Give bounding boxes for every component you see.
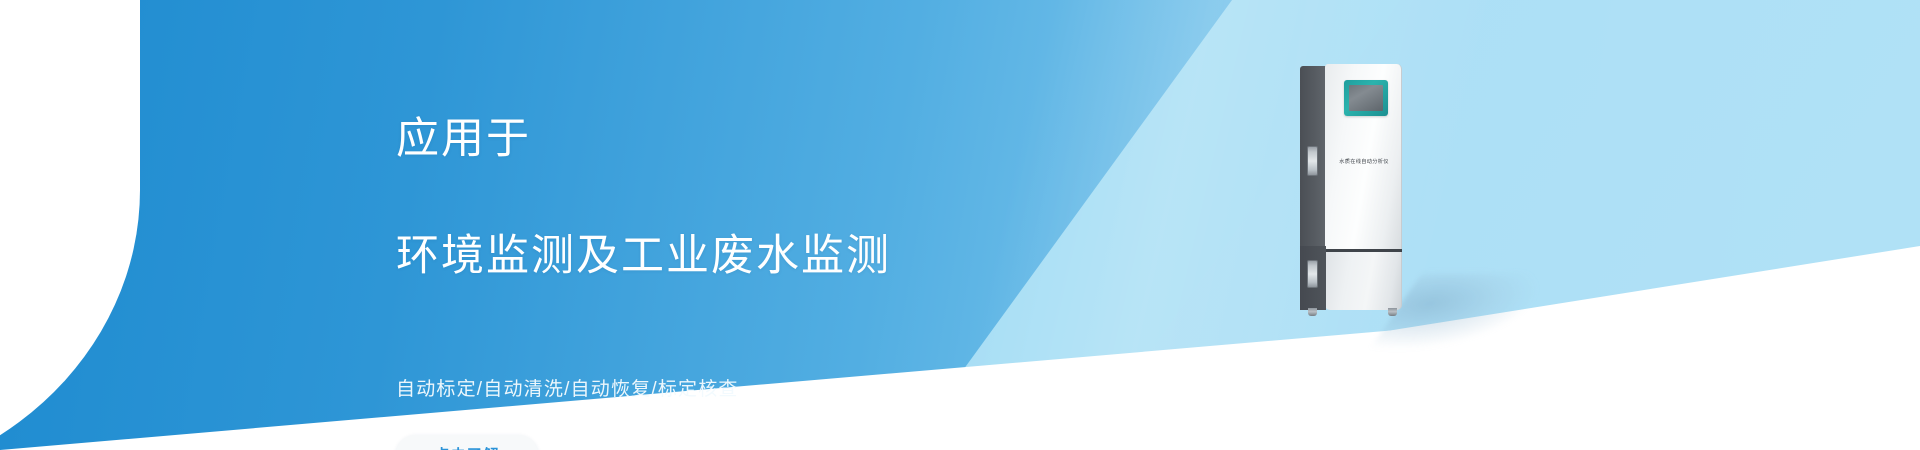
- cabinet-caster-right: [1388, 308, 1397, 316]
- cabinet-caster-left: [1308, 308, 1317, 316]
- display-bezel: [1344, 80, 1388, 116]
- cabinet-handle-lower: [1307, 260, 1318, 288]
- display-screen: [1349, 85, 1383, 111]
- banner-subtitle: 自动标定/自动清洗/自动恢复/标定核查: [396, 374, 1156, 401]
- promo-banner: 应用于 环境监测及工业废水监测 自动标定/自动清洗/自动恢复/标定核查 点击了解…: [0, 0, 1920, 450]
- cabinet-label: 水质在线自动分析仪: [1328, 158, 1400, 165]
- headline-line-2: 环境监测及工业废水监测: [396, 227, 1156, 285]
- product-image-water-quality-analyzer: 水质在线自动分析仪: [1300, 60, 1460, 330]
- headline-line-1: 应用于: [396, 110, 1156, 168]
- banner-copy-block: 应用于 环境监测及工业废水监测 自动标定/自动清洗/自动恢复/标定核查 点击了解: [396, 52, 1156, 450]
- cabinet-handle-upper: [1307, 146, 1318, 176]
- banner-headline: 应用于 环境监测及工业废水监测: [396, 52, 1156, 344]
- cabinet-lower-drawer: [1325, 252, 1402, 310]
- learn-more-button[interactable]: 点击了解: [396, 435, 538, 450]
